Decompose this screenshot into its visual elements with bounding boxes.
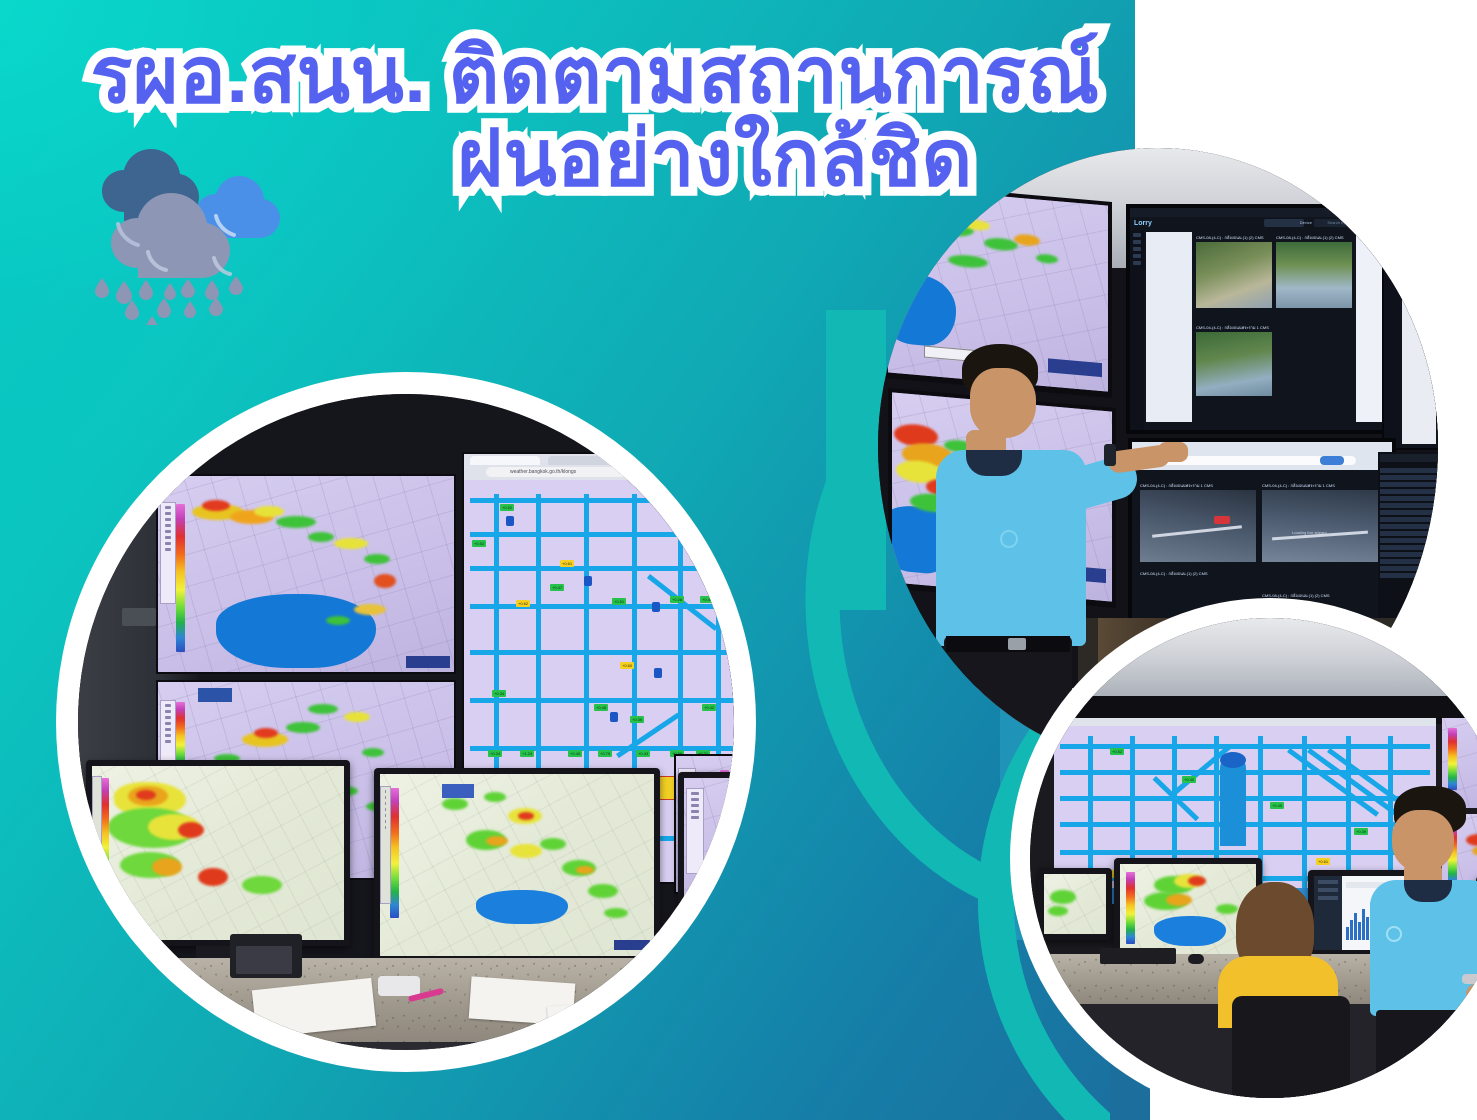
radar-tool-panel <box>686 788 704 874</box>
radar-terrain <box>380 774 654 956</box>
radar-tool-panel <box>380 786 391 904</box>
list-item[interactable] <box>1380 510 1438 515</box>
cctv-video-frame <box>1196 332 1272 396</box>
cctv-app-top: Lorry Device Search by Device... CMS-08-… <box>1130 208 1390 430</box>
desk-monitor-a <box>1038 868 1112 940</box>
desk-tissue <box>378 976 420 996</box>
canal-node <box>1220 752 1246 768</box>
gulf-of-thailand-top <box>216 594 376 668</box>
radar-timestamp <box>614 940 650 950</box>
shirt-logo <box>1000 530 1018 548</box>
radar-echo <box>198 868 228 886</box>
radar-echo <box>1166 894 1192 906</box>
side-app-sidebar[interactable] <box>1384 226 1400 448</box>
keyboard[interactable] <box>1100 948 1176 964</box>
radar-echo <box>178 822 204 838</box>
hand-pointing <box>1158 442 1188 462</box>
desk-monitor-left <box>86 760 350 946</box>
cctv-video-frame <box>1276 242 1352 308</box>
radar-echo <box>518 812 534 820</box>
radar-timestamp <box>406 656 450 668</box>
cctv-cell-3-label: CMS-04-(4-C) : กล้องถนนพระราม 1 CMS <box>1196 324 1269 331</box>
person-seated <box>1218 882 1348 1082</box>
radar-echo <box>486 836 508 846</box>
browser-url-text: weather.bangkok.go.th/klongs <box>510 469 576 475</box>
radar-echo <box>242 876 282 894</box>
desk-front-panel <box>78 1042 734 1050</box>
radar-tool-panel <box>160 502 176 604</box>
office-chair <box>1232 996 1350 1098</box>
wristwatch <box>1462 974 1477 984</box>
radar-echo <box>364 554 390 564</box>
list-item[interactable] <box>1380 538 1438 543</box>
radar-echo <box>374 574 396 588</box>
wristwatch <box>1104 444 1116 466</box>
desk-phone-keypad <box>236 946 292 974</box>
cctv-video-frame <box>1262 490 1378 562</box>
desk-monitor-right <box>374 768 660 962</box>
trousers <box>1376 1010 1477 1098</box>
device-list-panel[interactable] <box>1378 452 1438 634</box>
side-app-name: Lorry <box>1386 214 1404 221</box>
desk-monitor-far-right <box>678 772 734 912</box>
app-name-label: Lorry <box>1134 220 1152 227</box>
face <box>1392 810 1454 872</box>
browser-tab-active[interactable] <box>470 456 540 465</box>
radar-echo <box>442 798 468 810</box>
list-item[interactable] <box>1380 545 1438 550</box>
cctv-cell-3[interactable] <box>1196 332 1272 396</box>
radar-legend-top <box>176 504 185 652</box>
radar-echo <box>362 748 384 757</box>
bottom-right-room-scene: +0.52 +0.40 +0.45 +0.39 +0.61 จ.สมุทรปรา… <box>1030 618 1477 1098</box>
radar-echo <box>334 538 368 549</box>
wall-sign <box>122 608 156 626</box>
radar-info-box <box>442 784 474 798</box>
radar-legend <box>390 788 399 918</box>
radar-echo <box>308 532 334 542</box>
radar-info-box <box>198 688 232 702</box>
desk-paper-far-right <box>547 1002 645 1047</box>
videowall-screen-top <box>158 476 454 672</box>
cctv-cell-2[interactable] <box>1276 242 1352 308</box>
cctv-cell-2-label: CMS-08-(4-C) : กล้องถนน (1) (2) CMS <box>1276 234 1344 241</box>
left-room-scene: weather.bangkok.go.th/klongs <box>78 394 734 1050</box>
radar-echo <box>286 722 320 733</box>
vehicle <box>1214 516 1230 524</box>
collar <box>966 450 1022 476</box>
cctv-video-frame <box>1196 242 1272 308</box>
browser-chrome: weather.bangkok.go.th/klongs <box>464 454 734 480</box>
side-app-map <box>1402 228 1436 444</box>
list-item[interactable] <box>1380 524 1438 529</box>
map-route-line <box>1404 276 1437 286</box>
radar-echo <box>1050 890 1076 904</box>
desk-monitor-far-right-screen <box>684 778 734 906</box>
radar-echo <box>344 712 370 722</box>
list-item[interactable] <box>1380 468 1438 473</box>
radar-legend <box>1126 872 1135 944</box>
hand <box>1466 984 1477 1014</box>
browser-tab[interactable] <box>548 456 618 465</box>
search-placeholder: Search by Device... <box>1327 220 1362 225</box>
browser-profile-chip[interactable] <box>1320 456 1344 465</box>
rain-cloud-icon <box>66 140 306 325</box>
face <box>970 368 1036 438</box>
radar-legend <box>1448 728 1457 790</box>
list-item[interactable] <box>1380 573 1438 578</box>
cctv-cell-5[interactable]: Loading live stream... <box>1262 490 1378 562</box>
browser-tabs-bar[interactable] <box>1054 718 1436 726</box>
device-select[interactable] <box>1264 219 1304 227</box>
radar-echo <box>576 866 594 874</box>
cctv-status-text: Loading live stream... <box>1292 530 1330 535</box>
gulf-of-thailand <box>1154 916 1226 946</box>
list-item[interactable] <box>1380 559 1438 564</box>
radar-echo <box>540 838 566 850</box>
list-item[interactable] <box>1380 482 1438 487</box>
list-item[interactable] <box>1380 475 1438 480</box>
belt-buckle <box>1008 638 1026 650</box>
radar-terrain <box>1044 874 1106 934</box>
ceiling <box>1030 618 1477 700</box>
radar-echo <box>354 604 386 615</box>
radar-echo <box>1048 906 1068 916</box>
radar-echo <box>254 506 284 517</box>
photo-bottom-right: +0.52 +0.40 +0.45 +0.39 +0.61 จ.สมุทรปรา… <box>1030 618 1477 1098</box>
radar-echo <box>254 728 278 738</box>
device-select-label: Device <box>1300 220 1312 225</box>
search-icon[interactable] <box>1367 219 1376 228</box>
radar-echo <box>276 516 316 528</box>
radar-echo <box>308 704 338 714</box>
desk-remote <box>638 992 684 1006</box>
radar-echo <box>202 500 230 511</box>
cctv-titlebar <box>1130 208 1390 217</box>
title-line-1: รผอ.สนน. ติดตามสถานการณ์ <box>0 34 1180 117</box>
main-canal <box>1220 756 1246 846</box>
radar-echo <box>604 908 628 918</box>
list-item[interactable] <box>1380 552 1438 557</box>
map-route-line <box>1405 263 1438 275</box>
gulf-of-thailand <box>476 890 568 924</box>
desk-monitor-right-screen <box>380 774 654 956</box>
radar-tool-panel <box>92 776 102 886</box>
radar-legend <box>732 790 734 878</box>
person-standing <box>1370 786 1477 1098</box>
radar-echo <box>484 792 506 802</box>
mouse[interactable] <box>1188 954 1204 964</box>
cctv-app-bottom: CMS-04-(4-C) : กล้องถนนพระราม 1 CMS Load… <box>1132 442 1392 624</box>
device-list-body[interactable] <box>1380 466 1438 632</box>
radar-echo <box>326 616 350 625</box>
side-app: Lorry <box>1384 202 1438 448</box>
list-item[interactable] <box>1380 566 1438 571</box>
list-item[interactable] <box>1380 496 1438 501</box>
shirt-logo <box>1386 926 1402 942</box>
device-list-header <box>1380 454 1438 462</box>
photo-left: weather.bangkok.go.th/klongs <box>78 394 734 1050</box>
radar-echo <box>588 884 618 898</box>
list-item[interactable] <box>1380 517 1438 522</box>
radar-echo <box>152 858 182 876</box>
desk-monitor-left-screen <box>92 766 344 940</box>
radar-echo <box>510 844 542 858</box>
list-item[interactable] <box>1380 489 1438 494</box>
list-item[interactable] <box>1380 503 1438 508</box>
poster-canvas: weather.bangkok.go.th/klongs <box>0 0 1477 1120</box>
cctv-cell-5-label: CMS-04-(4-C) : กล้องถนนพระราม 1 CMS <box>1262 482 1335 489</box>
desk-monitor-a-screen <box>1044 874 1106 934</box>
cctv-cell-1-label: CMS-08-(4-C) : กล้องถนน (1) (2) CMS <box>1196 234 1264 241</box>
list-item[interactable] <box>1380 531 1438 536</box>
radar-echo <box>1188 876 1206 886</box>
cctv-cell-1[interactable] <box>1196 242 1272 308</box>
radar-echo <box>136 790 156 800</box>
